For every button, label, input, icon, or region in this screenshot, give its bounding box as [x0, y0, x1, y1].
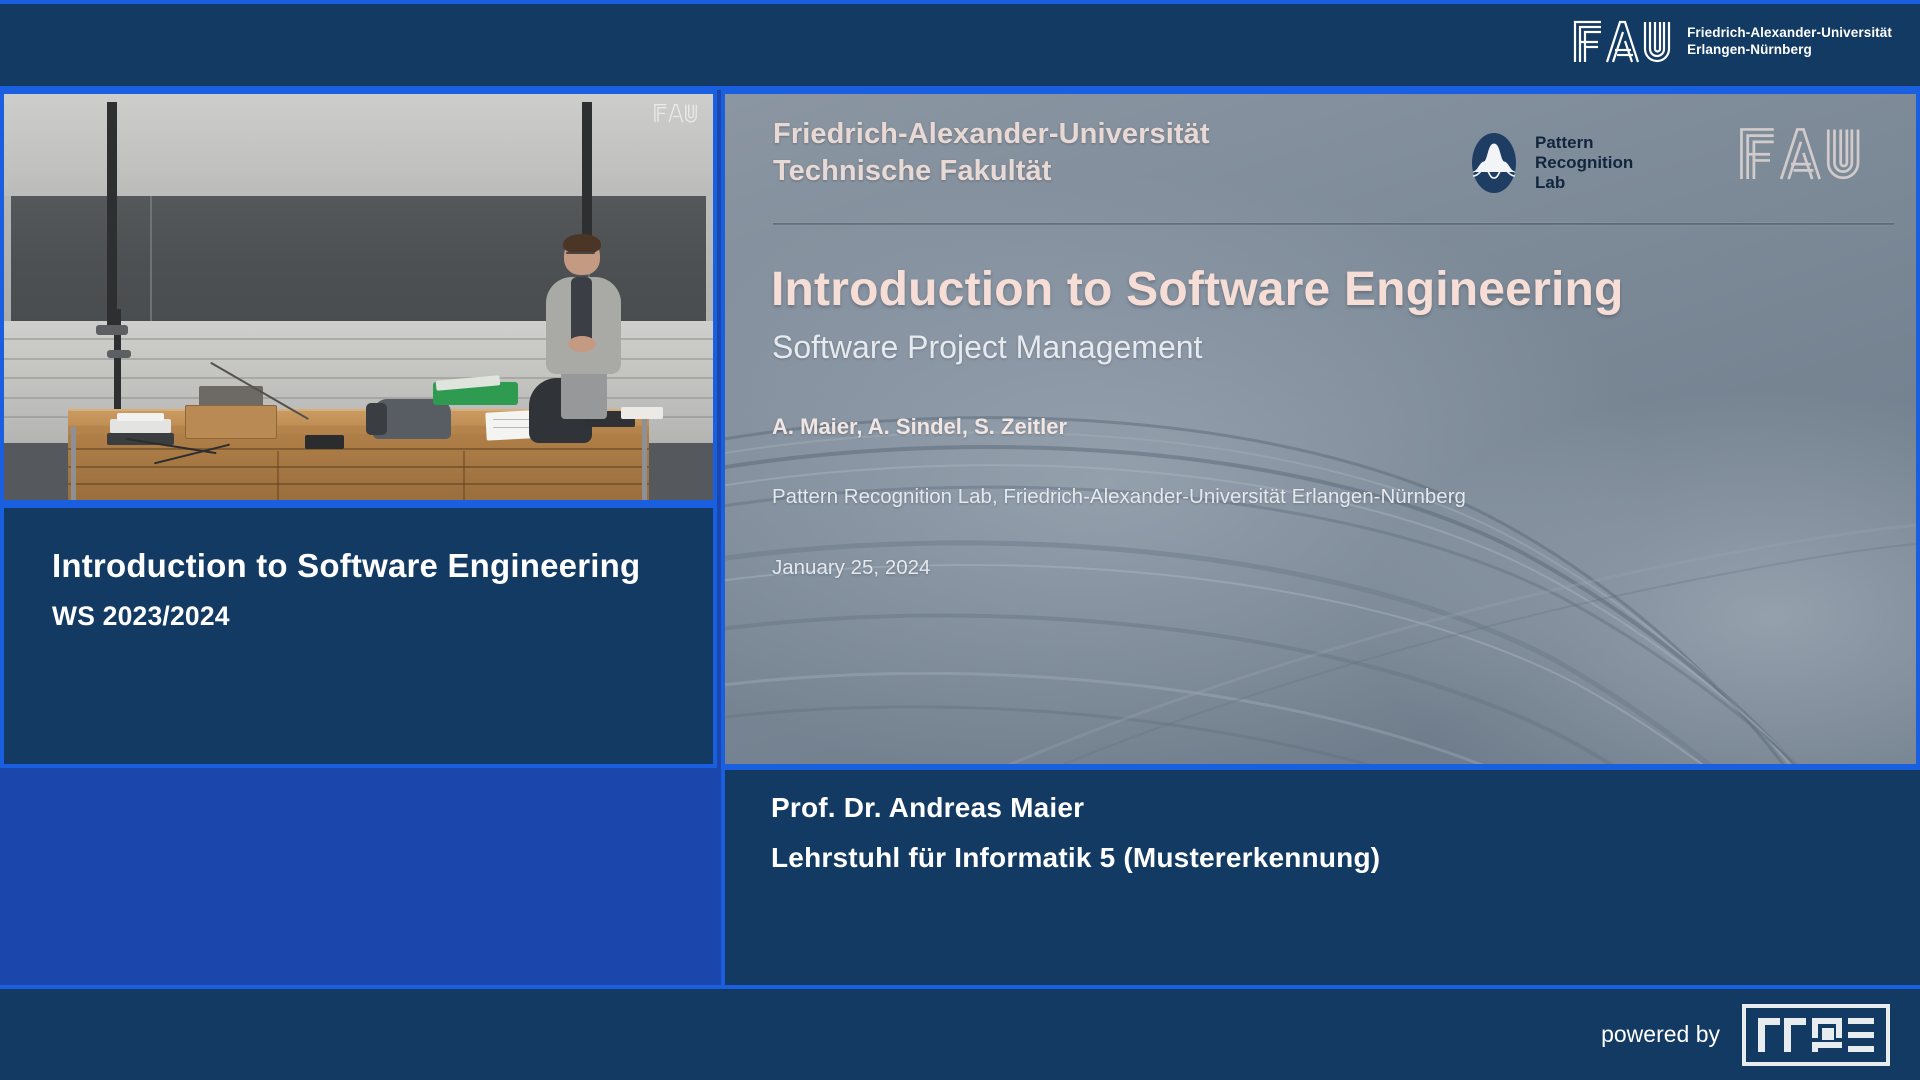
- desk-leg-left: [71, 427, 76, 500]
- fau-watermark-icon: [653, 102, 699, 124]
- fau-wordmark: Friedrich-Alexander-Universität Erlangen…: [1687, 24, 1892, 59]
- mount-bracket-lower: [107, 350, 131, 358]
- prl-line-2: Recognition: [1535, 153, 1633, 173]
- slide-university-line-2: Technische Fakultät: [773, 153, 1890, 190]
- fau-logo-icon: [1736, 122, 1866, 184]
- slide-authors: A. Maier, A. Sindel, S. Zeitler: [772, 414, 1067, 440]
- video-frame: [4, 94, 713, 500]
- lecture-term: WS 2023/2024: [52, 601, 673, 632]
- paper-stack-left: [117, 413, 163, 421]
- slide-university: Friedrich-Alexander-Universität Technisc…: [773, 116, 1890, 190]
- fau-logo-icon: [1571, 16, 1675, 66]
- mount-pole-right: [582, 102, 592, 248]
- slide-header-divider: [773, 222, 1894, 226]
- equipment-box: [185, 405, 277, 440]
- fau-brand-header: Friedrich-Alexander-Universität Erlangen…: [1571, 16, 1892, 66]
- slide-affiliation: Pattern Recognition Lab, Friedrich-Alexa…: [772, 485, 1466, 509]
- microphone-base: [305, 435, 344, 449]
- presenter-info-bar: Prof. Dr. Andreas Maier Lehrstuhl für In…: [721, 768, 1920, 985]
- presenter-name: Prof. Dr. Andreas Maier: [771, 792, 1920, 824]
- pattern-recognition-lab-icon: [1463, 132, 1525, 194]
- rrze-logo-icon: [1742, 1004, 1890, 1066]
- lecture-title: Introduction to Software Engineering: [52, 544, 673, 589]
- prl-wordmark: Pattern Recognition Lab: [1535, 133, 1633, 193]
- slide-header: Friedrich-Alexander-Universität Technisc…: [773, 116, 1890, 228]
- lecturer-hair: [563, 234, 601, 254]
- slide-subtitle: Software Project Management: [772, 329, 1202, 366]
- lecture-info-block: Introduction to Software Engineering WS …: [0, 504, 717, 768]
- desk-leg-right: [642, 419, 647, 500]
- prl-line-3: Lab: [1535, 173, 1633, 193]
- lecturer-hands: [568, 336, 596, 352]
- laptop-screen: [199, 386, 263, 406]
- presenter-chair: Lehrstuhl für Informatik 5 (Mustererkenn…: [771, 842, 1920, 874]
- prl-line-1: Pattern: [1535, 133, 1633, 153]
- slide-date: January 25, 2024: [772, 556, 930, 580]
- university-line-2: Erlangen-Nürnberg: [1687, 41, 1892, 58]
- paper-right: [621, 407, 664, 419]
- slide-university-line-1: Friedrich-Alexander-Universität: [773, 116, 1890, 153]
- slide-title: Introduction to Software Engineering: [771, 262, 1624, 317]
- university-line-1: Friedrich-Alexander-Universität: [1687, 24, 1892, 41]
- rrze-glyph: [1756, 1014, 1876, 1056]
- backpack-strap: [366, 403, 387, 435]
- mount-pole-left: [107, 102, 117, 329]
- top-bar: Friedrich-Alexander-Universität Erlangen…: [0, 0, 1920, 90]
- screen: Friedrich-Alexander-Universität Erlangen…: [0, 0, 1920, 1080]
- laptop-keyboard: [110, 419, 170, 433]
- powered-by-label: powered by: [1601, 1021, 1720, 1048]
- lecture-video[interactable]: [0, 90, 717, 504]
- mount-bracket: [96, 325, 128, 335]
- left-filler-panel: [0, 768, 717, 985]
- pattern-recognition-lab-logo: Pattern Recognition Lab: [1463, 132, 1633, 194]
- presentation-slide[interactable]: Friedrich-Alexander-Universität Technisc…: [721, 90, 1920, 768]
- footer-bar: powered by: [0, 985, 1920, 1080]
